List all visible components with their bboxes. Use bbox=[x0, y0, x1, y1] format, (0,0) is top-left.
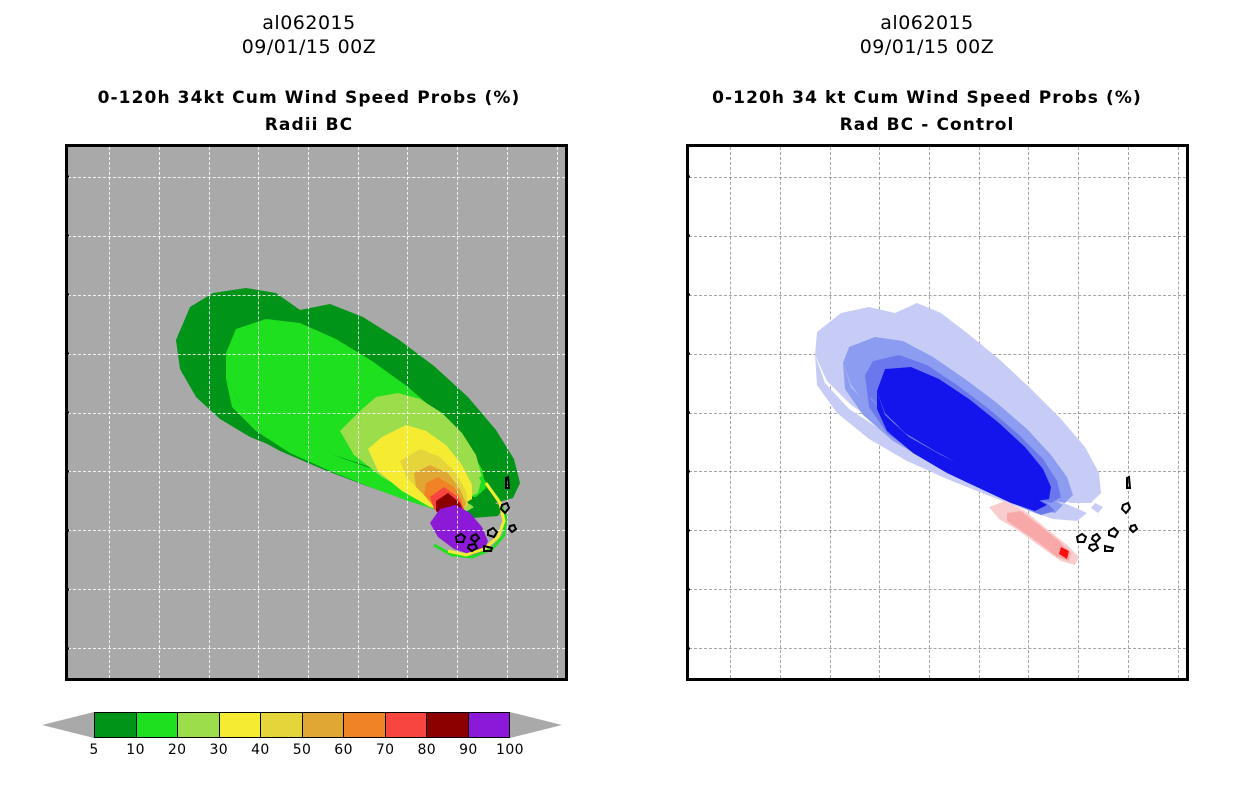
left-colorbar-min-cap bbox=[42, 712, 94, 738]
right-datetime: 09/01/15 00Z bbox=[618, 36, 1236, 58]
left-cb-band-0 bbox=[95, 713, 137, 737]
left-probability-contours bbox=[68, 147, 568, 681]
left-chart-title: 0-120h 34kt Cum Wind Speed Probs (%) bbox=[0, 88, 618, 108]
left-cb-tick-50: 50 bbox=[293, 742, 312, 758]
left-cb-band-9 bbox=[469, 713, 510, 737]
left-cb-band-6 bbox=[344, 713, 386, 737]
left-cb-band-5 bbox=[303, 713, 345, 737]
left-storm-id: al062015 bbox=[0, 12, 618, 34]
left-cb-band-8 bbox=[427, 713, 469, 737]
left-cb-tick-70: 70 bbox=[376, 742, 395, 758]
left-cb-tick-60: 60 bbox=[334, 742, 353, 758]
left-cb-tick-40: 40 bbox=[251, 742, 270, 758]
left-cb-band-3 bbox=[220, 713, 262, 737]
left-cb-tick-30: 30 bbox=[209, 742, 228, 758]
left-plot-area: 33N 30N 27N 24N 21N 18N 15N 12N 9N 48W 4… bbox=[65, 144, 568, 681]
left-colorbar-max-cap bbox=[510, 712, 562, 738]
right-chart-title: 0-120h 34 kt Cum Wind Speed Probs (%) bbox=[618, 88, 1236, 108]
left-cb-tick-20: 20 bbox=[168, 742, 187, 758]
panel-radii-bc: al062015 09/01/15 00Z 0-120h 34kt Cum Wi… bbox=[0, 0, 618, 800]
left-cb-tick-10: 10 bbox=[126, 742, 145, 758]
left-cb-band-4 bbox=[261, 713, 303, 737]
left-cb-band-7 bbox=[386, 713, 428, 737]
left-colorbar-strip bbox=[42, 712, 562, 738]
left-colorbar-bands bbox=[94, 712, 510, 738]
panel-rad-bc-minus-control: al062015 09/01/15 00Z 0-120h 34 kt Cum W… bbox=[618, 0, 1236, 800]
left-cb-band-1 bbox=[137, 713, 179, 737]
right-chart-subtitle: Rad BC - Control bbox=[618, 115, 1236, 135]
left-cb-tick-80: 80 bbox=[417, 742, 436, 758]
wind-speed-probability-figure: al062015 09/01/15 00Z 0-120h 34kt Cum Wi… bbox=[0, 0, 1236, 800]
left-cb-tick-90: 90 bbox=[459, 742, 478, 758]
left-cb-tick-100: 100 bbox=[496, 742, 524, 758]
left-chart-subtitle: Radii BC bbox=[0, 115, 618, 135]
right-storm-id: al062015 bbox=[618, 12, 1236, 34]
left-colorbar: 5 10 20 30 40 50 60 70 80 90 100 bbox=[42, 712, 562, 772]
left-datetime: 09/01/15 00Z bbox=[0, 36, 618, 58]
right-plot-area: 33N 30N 27N 24N 21N 18N 15N 12N 9N 48W 4… bbox=[686, 144, 1189, 681]
left-cb-tick-5: 5 bbox=[89, 742, 98, 758]
left-cb-band-2 bbox=[178, 713, 220, 737]
right-difference-contours bbox=[689, 147, 1189, 681]
